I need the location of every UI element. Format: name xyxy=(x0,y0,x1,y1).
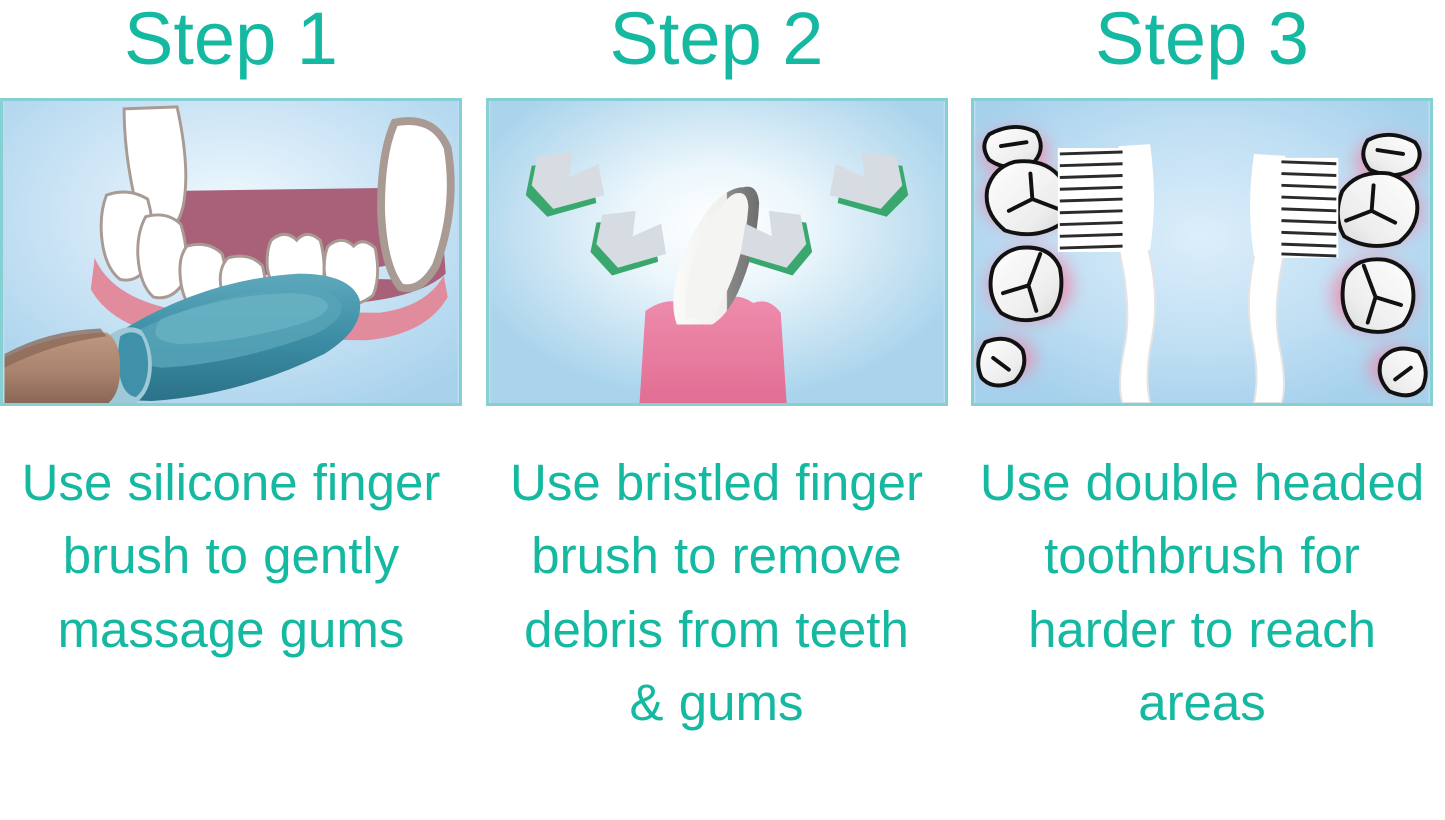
steps-board: Step 1 xyxy=(0,0,1445,820)
step-2-illustration-panel xyxy=(486,98,948,406)
step-3-illustration-panel xyxy=(971,98,1433,406)
step-1-caption: Use silicone finger brush to gently mass… xyxy=(16,446,446,666)
step-column-1: Step 1 xyxy=(0,0,466,666)
step-column-3: Step 3 xyxy=(967,0,1437,740)
step-3-title: Step 3 xyxy=(1095,2,1309,76)
step-3-caption: Use double headed toothbrush for harder … xyxy=(977,446,1427,740)
bristled-brush-tooth-arrows-illustration xyxy=(489,101,945,403)
step-2-title: Step 2 xyxy=(610,2,824,76)
double-headed-toothbrush-molars-illustration xyxy=(974,101,1430,403)
step-2-caption: Use bristled finger brush to remove debr… xyxy=(502,446,932,740)
step-column-2: Step 2 xyxy=(482,0,952,740)
silicone-finger-brush-on-gums-illustration xyxy=(3,101,459,403)
step-1-title: Step 1 xyxy=(124,2,338,76)
step-1-illustration-panel xyxy=(0,98,462,406)
